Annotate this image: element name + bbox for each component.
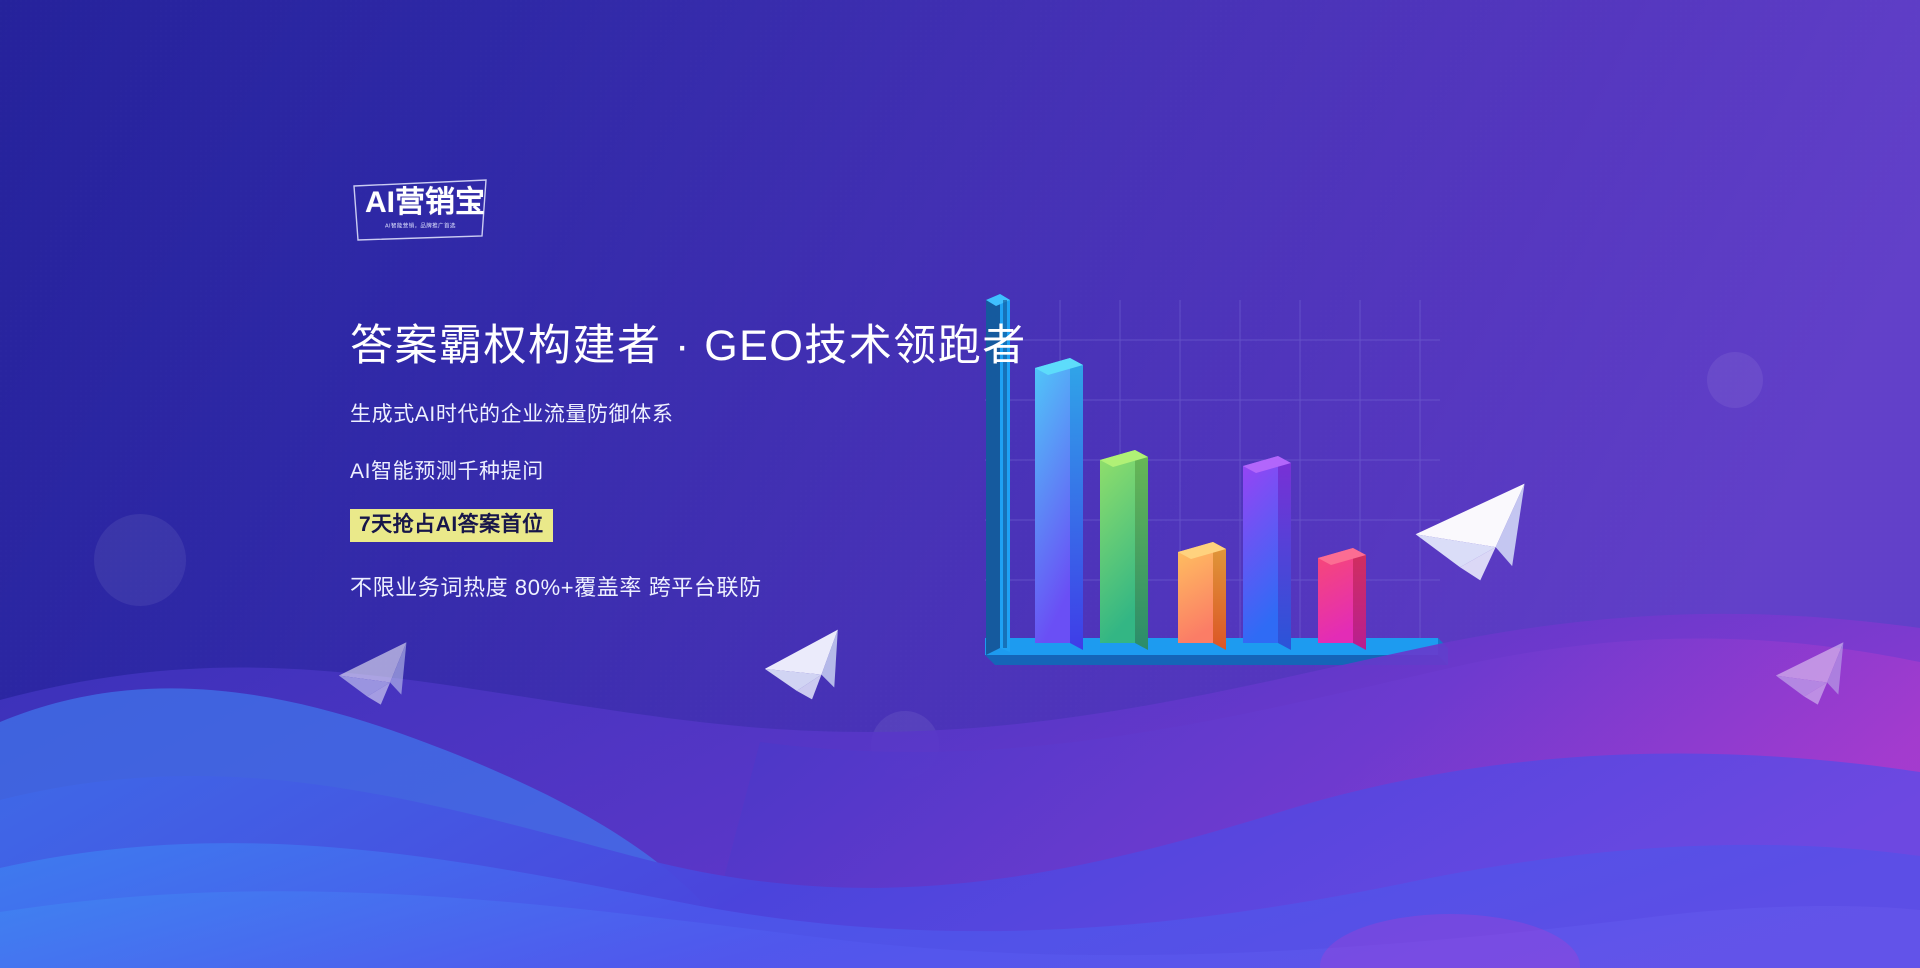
paper-plane-icon [1410,484,1542,592]
page-title: 答案霸权构建者 · GEO技术领跑者 [350,320,1030,372]
paper-plane-icon [760,630,854,710]
paper-plane-icon [335,642,420,713]
brand-logo[interactable]: AI营销宝 AI智能营销，品牌推广首选 [355,180,495,242]
hero-copy: 答案霸权构建者 · GEO技术领跑者 生成式AI时代的企业流量防御体系 AI智能… [350,320,1030,602]
paper-plane-icon [1772,642,1857,713]
hero-subtitle-2: AI智能预测千种提问 [350,455,1030,485]
logo-wordmark: AI营销宝 [365,186,485,220]
hero-subtitle-1: 生成式AI时代的企业流量防御体系 [350,398,1030,428]
logo-tagline: AI智能营销，品牌推广首选 [385,221,456,229]
hero-subtitle-3: 不限业务词热度 80%+覆盖率 跨平台联防 [350,570,1030,602]
hero-banner: AI营销宝 AI智能营销，品牌推广首选 答案霸权构建者 · GEO技术领跑者 生… [0,0,1920,968]
hero-highlight-row: 7天抢占AI答案首位 [350,509,1030,542]
highlight-badge: 7天抢占AI答案首位 [350,509,553,542]
